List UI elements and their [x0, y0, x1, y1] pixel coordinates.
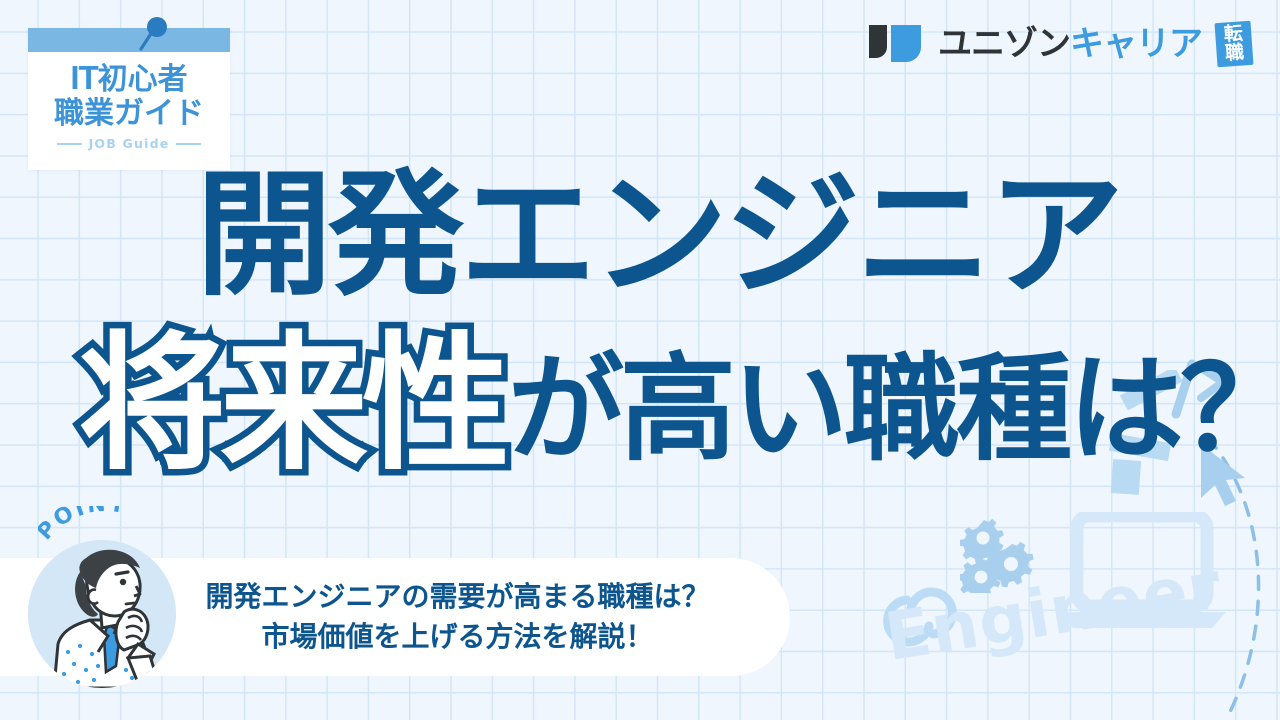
job-guide-line1: IT初心者	[28, 61, 230, 96]
headline-line-2: 将来性 が高い職種は？	[78, 330, 1280, 478]
svg-text:POINT: POINT	[38, 506, 129, 545]
job-guide-line2: 職業ガイド	[28, 97, 230, 132]
job-guide-card-body: IT初心者 職業ガイド JOB Guide	[28, 52, 230, 151]
headline-emphasis: 将来性	[78, 330, 504, 478]
unison-u-mark-icon	[867, 23, 929, 65]
subtitle-line-1: 開発エンジニアの需要が高まる職種は？	[185, 577, 730, 617]
job-guide-it-label: IT	[70, 59, 97, 96]
subtitle-line-2: 市場価値を上げる方法を解説！	[185, 617, 730, 657]
rule-right	[176, 143, 201, 145]
brand-name-blue: キャリア	[1070, 27, 1202, 61]
tenshoku-badge-char2: 職	[1225, 43, 1245, 63]
poster-canvas: Engineer IT初心者 職業ガイド JOB Guide	[0, 0, 1280, 720]
job-guide-subcaption: JOB Guide	[28, 136, 230, 151]
brand-name-dark: ユニゾン	[938, 27, 1070, 61]
job-guide-sub-label: JOB Guide	[89, 136, 170, 151]
headline-line-1: 開発エンジニア	[196, 168, 1120, 304]
engineer-word-decoration: Engineer	[880, 547, 1227, 676]
job-guide-card: IT初心者 職業ガイド JOB Guide	[28, 28, 230, 170]
headline-tail: が高い職種は？	[508, 352, 1280, 468]
point-label-text: POINT	[38, 506, 129, 545]
rule-left	[57, 143, 82, 145]
tenshoku-badge: 転 職	[1215, 21, 1254, 67]
pushpin-icon	[133, 16, 173, 58]
job-guide-card-header-bar	[28, 28, 230, 52]
thinking-businessman-avatar	[28, 540, 176, 688]
job-guide-beginner-label: 初心者	[98, 62, 188, 97]
subtitle-text: 開発エンジニアの需要が高まる職種は？ 市場価値を上げる方法を解説！	[185, 577, 730, 657]
brand-name: ユニゾンキャリア	[938, 27, 1202, 61]
brand-logo[interactable]: ユニゾンキャリア 転 職	[867, 22, 1252, 66]
